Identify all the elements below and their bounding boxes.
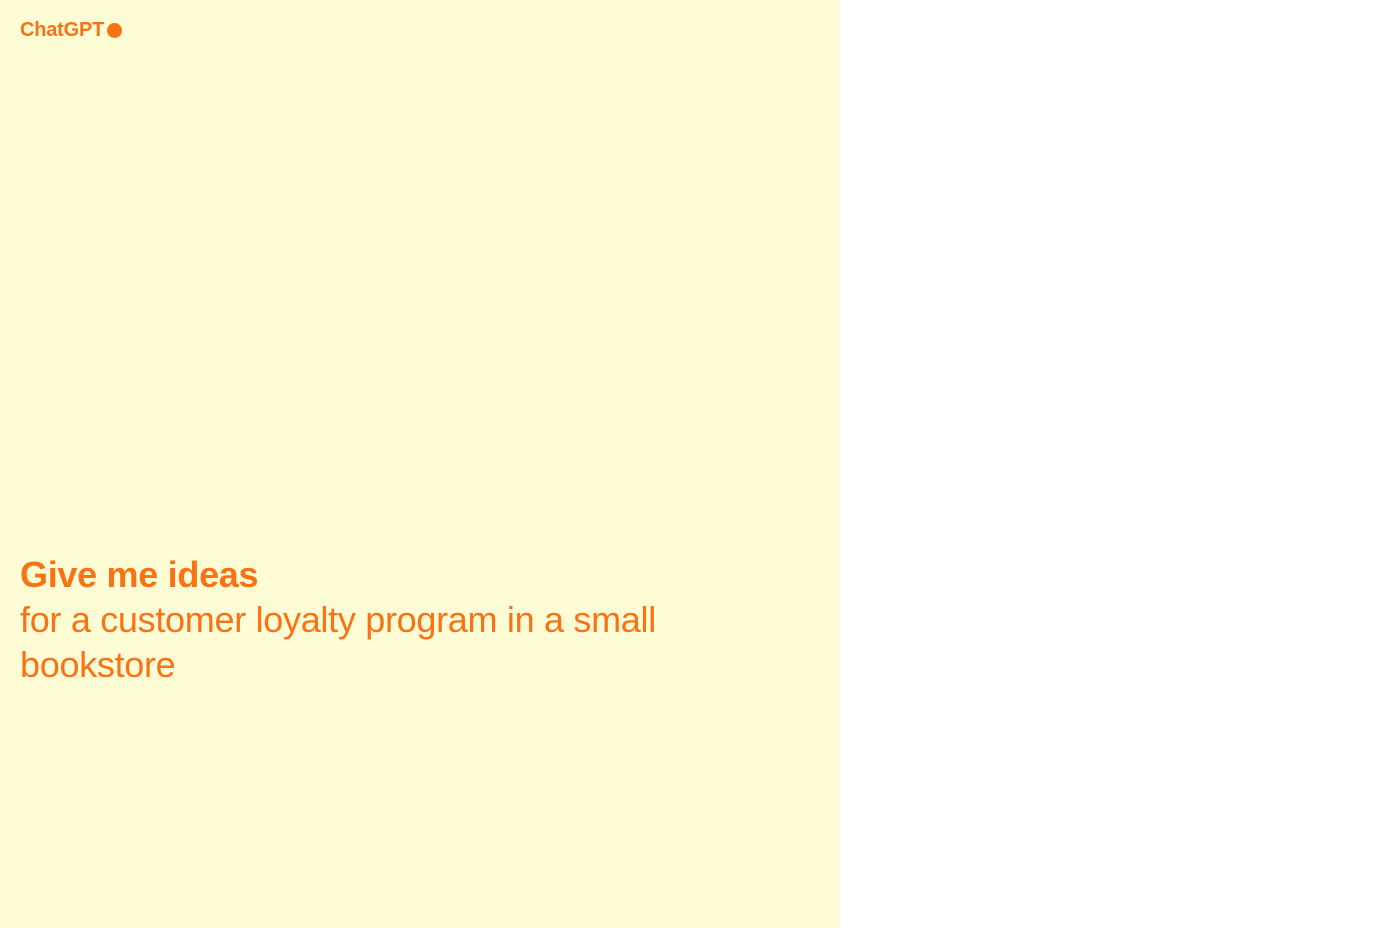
suggestion-prompt-detail: for a customer loyalty program in a smal… xyxy=(20,597,680,687)
brand-wordmark: ChatGPT xyxy=(20,20,104,40)
promo-panel: ChatGPT Give me ideas for a customer loy… xyxy=(0,0,840,928)
suggestion-prompt[interactable]: Give me ideas for a customer loyalty pro… xyxy=(20,552,680,687)
auth-panel: Get started Log in Sign up xyxy=(840,0,1400,928)
brand-logo[interactable]: ChatGPT xyxy=(20,20,122,40)
brand-dot-icon xyxy=(107,23,122,38)
suggestion-prompt-lead: Give me ideas xyxy=(20,552,680,597)
